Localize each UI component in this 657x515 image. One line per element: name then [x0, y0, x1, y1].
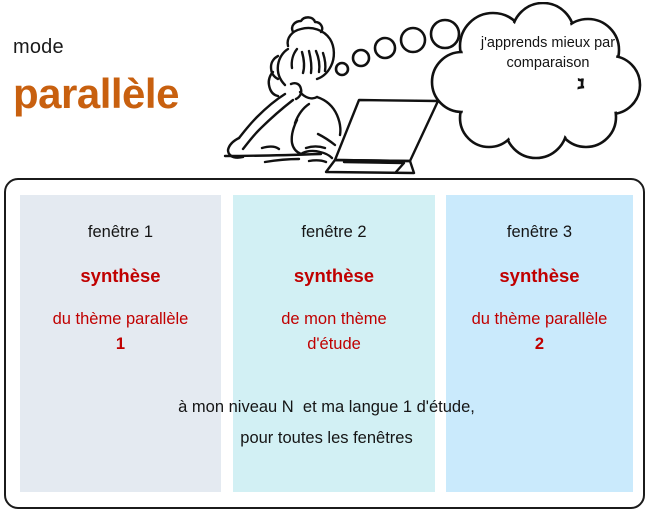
window-desc-line-1: du thème parallèle	[53, 310, 189, 328]
footer-line-1: à mon niveau N et ma langue 1 d'étude,	[20, 392, 633, 423]
window-description: de mon thème d'étude	[227, 307, 441, 357]
window-desc-line-1: de mon thème	[281, 310, 386, 328]
window-desc-line-1: du thème parallèle	[472, 310, 608, 328]
window-title: fenêtre 3	[446, 223, 633, 242]
window-title: fenêtre 1	[20, 223, 221, 242]
window-synthese: synthèse	[20, 265, 221, 287]
window-synthese: synthèse	[446, 265, 633, 287]
window-title: fenêtre 2	[233, 223, 435, 242]
window-desc-line-2: 2	[535, 335, 544, 353]
mode-label: mode	[13, 36, 64, 59]
window-synthese: synthèse	[233, 265, 435, 287]
thought-bubble-icon	[330, 2, 655, 167]
header-area: mode parallèle	[0, 0, 657, 178]
window-desc-line-2: d'étude	[307, 335, 361, 353]
page-title: parallèle	[13, 70, 179, 118]
footer-note: à mon niveau N et ma langue 1 d'étude, p…	[20, 392, 633, 454]
footer-line-2: pour toutes les fenêtres	[20, 423, 633, 454]
window-desc-line-2: 1	[116, 335, 125, 353]
window-description: du thème parallèle 1	[14, 307, 227, 357]
window-description: du thème parallèle 2	[440, 307, 639, 357]
thought-bubble-text: j'apprends mieux par comparaison	[468, 33, 628, 73]
